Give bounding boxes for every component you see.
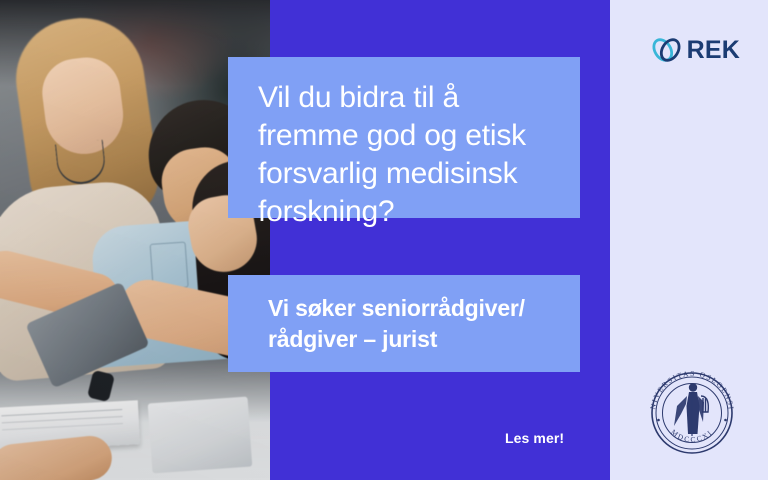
rek-interlocking-ellipses-icon bbox=[650, 29, 685, 71]
uio-seal-icon: UNIVERSITAS OSLOENSIS MDCCCXI bbox=[641, 362, 743, 464]
headline-text: Vil du bidra til å fremme god og etisk f… bbox=[258, 79, 554, 231]
rek-logo[interactable]: REK bbox=[650, 28, 740, 72]
job-title-text: Vi søker seniorrådgiver/ rådgiver – juri… bbox=[268, 293, 558, 355]
rek-wordmark: REK bbox=[687, 38, 740, 63]
read-more-link[interactable]: Les mer! bbox=[505, 430, 564, 446]
job-title-box: Vi søker seniorrådgiver/ rådgiver – juri… bbox=[228, 275, 580, 372]
university-of-oslo-seal[interactable]: UNIVERSITAS OSLOENSIS MDCCCXI bbox=[641, 362, 743, 464]
recruitment-banner: Vil du bidra til å fremme god og etisk f… bbox=[0, 0, 768, 480]
headline-box: Vil du bidra til å fremme god og etisk f… bbox=[228, 57, 580, 218]
